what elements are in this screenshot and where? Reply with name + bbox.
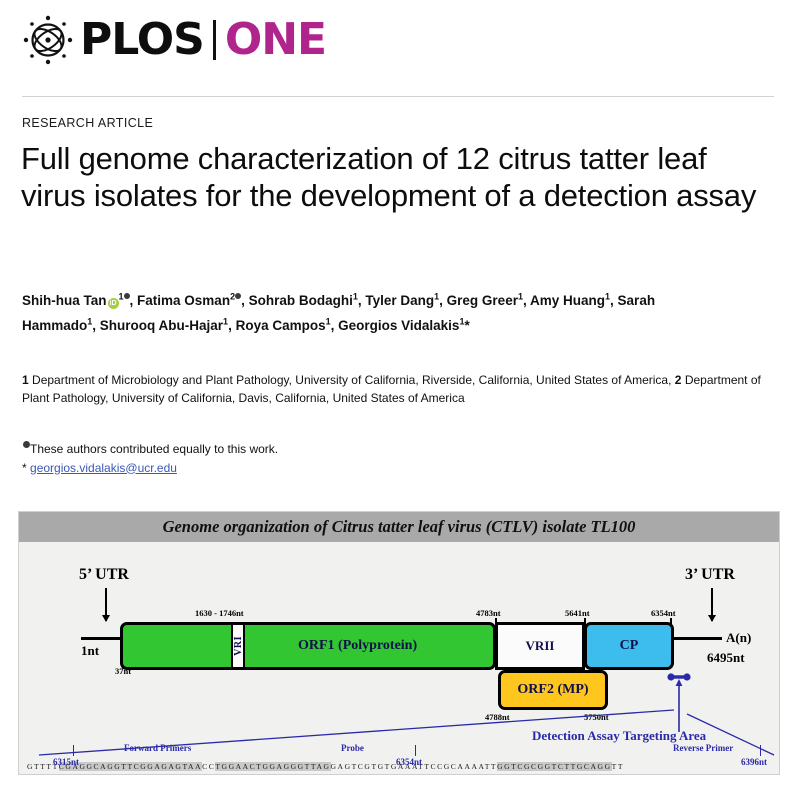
equal-contribution-marker [124, 291, 130, 301]
brand-divider [213, 20, 216, 60]
author-affiliation-marker: 1 [353, 291, 358, 301]
author-name: Sohrab Bodaghi [249, 293, 353, 308]
equal-contribution-icon [23, 441, 30, 448]
author-list: Shih-hua TaniD1, Fatima Osman2, Sohrab B… [22, 286, 722, 336]
affil-1-number: 1 [22, 373, 29, 387]
equal-contribution-note: These authors contributed equally to thi… [22, 440, 722, 459]
author-name: Fatima Osman [137, 293, 230, 308]
plos-globe-icon [22, 14, 74, 66]
figure-body: 5’ UTR 3’ UTR 1630 - 1746nt 4783nt 5641n… [19, 542, 779, 773]
label-probe: Probe [341, 743, 364, 753]
seq-probe: TGGAACTGGAGGGTTAG [215, 762, 330, 771]
figure-title: Genome organization of Citrus tatter lea… [19, 512, 779, 542]
genome-organization-figure: Genome organization of Citrus tatter lea… [18, 511, 780, 775]
corresponding-author-marker: * [464, 318, 469, 333]
label-forward-primers: Forward Primers [124, 743, 191, 753]
label-6354nt: 6354nt [396, 757, 422, 767]
label-6315nt: 6315nt [53, 757, 79, 767]
tick-6315nt [73, 745, 74, 756]
seq-forward-primer: CGAGGCAGGTTCGGAGAGTAA [59, 762, 202, 771]
author-affiliation-marker: 1 [518, 291, 523, 301]
author-affiliation-marker: 1 [434, 291, 439, 301]
author-name: Roya Campos [236, 318, 326, 333]
label-6396nt: 6396nt [741, 757, 767, 767]
plos-one-masthead: PLOS ONE [22, 14, 326, 66]
author-notes: These authors contributed equally to thi… [22, 440, 722, 477]
affil-2-number: 2 [675, 373, 682, 387]
author-name: Georgios Vidalakis [338, 318, 459, 333]
header-divider [22, 96, 774, 97]
article-kicker: RESEARCH ARTICLE [22, 116, 153, 130]
brand-plos: PLOS [80, 18, 204, 62]
author-name: Amy Huang [530, 293, 605, 308]
tick-6396nt [760, 745, 761, 756]
author-affiliation-marker: 1 [326, 316, 331, 326]
tick-6354nt [415, 745, 416, 756]
zoom-guide-lines [19, 542, 779, 773]
brand-one: ONE [225, 18, 326, 62]
seq-reverse-primer: GGTCGCGGTCTTGCAGG [497, 762, 612, 771]
author-name: Shih-hua Tan [22, 293, 107, 308]
author-affiliation-marker: 1 [119, 291, 124, 301]
label-reverse-primer: Reverse Primer [673, 743, 733, 753]
author-name: Tyler Dang [365, 293, 434, 308]
corresponding-author-note: * georgios.vidalakis@ucr.edu [22, 459, 722, 478]
author-affiliation-marker: 1 [87, 316, 92, 326]
equal-note-text: These authors contributed equally to thi… [30, 442, 278, 456]
author-name: Greg Greer [447, 293, 518, 308]
page-title: Full genome characterization of 12 citru… [21, 140, 761, 214]
equal-contribution-marker [235, 291, 241, 301]
corresponding-email-link[interactable]: georgios.vidalakis@ucr.edu [30, 461, 177, 475]
seq-plain-2: CC [202, 762, 215, 771]
seq-plain-4: TT [612, 762, 624, 771]
author-affiliation-marker: 1 [223, 316, 228, 326]
orcid-icon[interactable]: iD [108, 298, 119, 309]
author-affiliation-marker: 1 [605, 291, 610, 301]
author-name: Shurooq Abu-Hajar [100, 318, 223, 333]
affiliations: 1 Department of Microbiology and Plant P… [22, 372, 764, 407]
corresponding-star: * [22, 461, 27, 475]
affil-1-text: Department of Microbiology and Plant Pat… [32, 373, 671, 387]
